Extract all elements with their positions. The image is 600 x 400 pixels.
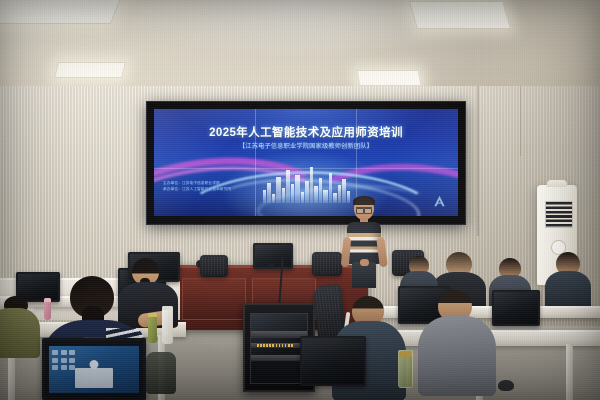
computer-mouse[interactable]: [498, 380, 514, 391]
panel-light-front-left-icon: [0, 0, 121, 24]
panel-light-back-right-icon: [357, 70, 422, 86]
lcd-video-wall: 2025年人工智能技术及应用师资培训 【江苏电子信息职业学院国家级教师创新团队】…: [146, 101, 466, 225]
video-wall-display-area: 2025年人工智能技术及应用师资培训 【江苏电子信息职业学院国家级教师创新团队】…: [154, 109, 458, 216]
rack-server-unit: [251, 355, 307, 361]
panel-light-front-right-icon: [409, 1, 511, 29]
rack-patch-panel: [251, 331, 307, 338]
office-chair[interactable]: [312, 252, 342, 276]
rack-status-leds: [257, 344, 293, 347]
monitor-screen: [300, 336, 366, 386]
bottle-cap: [148, 313, 157, 317]
workstation-monitor-front[interactable]: [300, 336, 362, 382]
attendee-back-far-right: [545, 252, 591, 310]
laptop-desktop-icons: [52, 350, 75, 370]
podium-panel: [182, 278, 246, 320]
presenter-glasses-icon: [356, 207, 372, 212]
presenter-standing: [341, 197, 387, 287]
laptop-lid: [42, 338, 146, 400]
bottle-cap: [399, 351, 412, 357]
monitor-screen: [492, 290, 540, 326]
screen-glare: [154, 109, 458, 216]
workstation-monitor[interactable]: [492, 290, 536, 322]
pink-bottle: [44, 298, 51, 320]
attendee-shirt: [418, 316, 496, 396]
bag-under-desk: [146, 352, 176, 394]
air-conditioner-vent-louvers: [545, 201, 573, 228]
air-conditioner-top: [547, 180, 567, 187]
classroom-photo: 2025年人工智能技术及应用师资培训 【江苏电子信息职业学院国家级教师创新团队】…: [0, 0, 600, 400]
desk-leg: [566, 344, 573, 400]
presenter-hand: [360, 259, 369, 266]
attendee-grey-tee: [418, 290, 496, 400]
thermos-cap: [162, 306, 173, 310]
laptop-screen: [49, 346, 139, 393]
white-thermos: [162, 306, 173, 344]
attendee-shirt: [545, 271, 591, 311]
panel-light-back-left-icon: [54, 62, 126, 78]
attendee-shirt: [0, 308, 40, 358]
green-tea-bottle: [148, 313, 157, 343]
laptop-login-box[interactable]: [75, 368, 113, 388]
green-tea-bottle: [398, 350, 413, 388]
office-chair[interactable]: [200, 255, 228, 277]
podium-monitor[interactable]: [253, 243, 289, 265]
bottle-cap: [44, 298, 51, 302]
podium-monitor-stand: [269, 264, 274, 269]
attendee-olive-shirt: [0, 296, 40, 356]
open-laptop-front-row[interactable]: [42, 338, 146, 400]
